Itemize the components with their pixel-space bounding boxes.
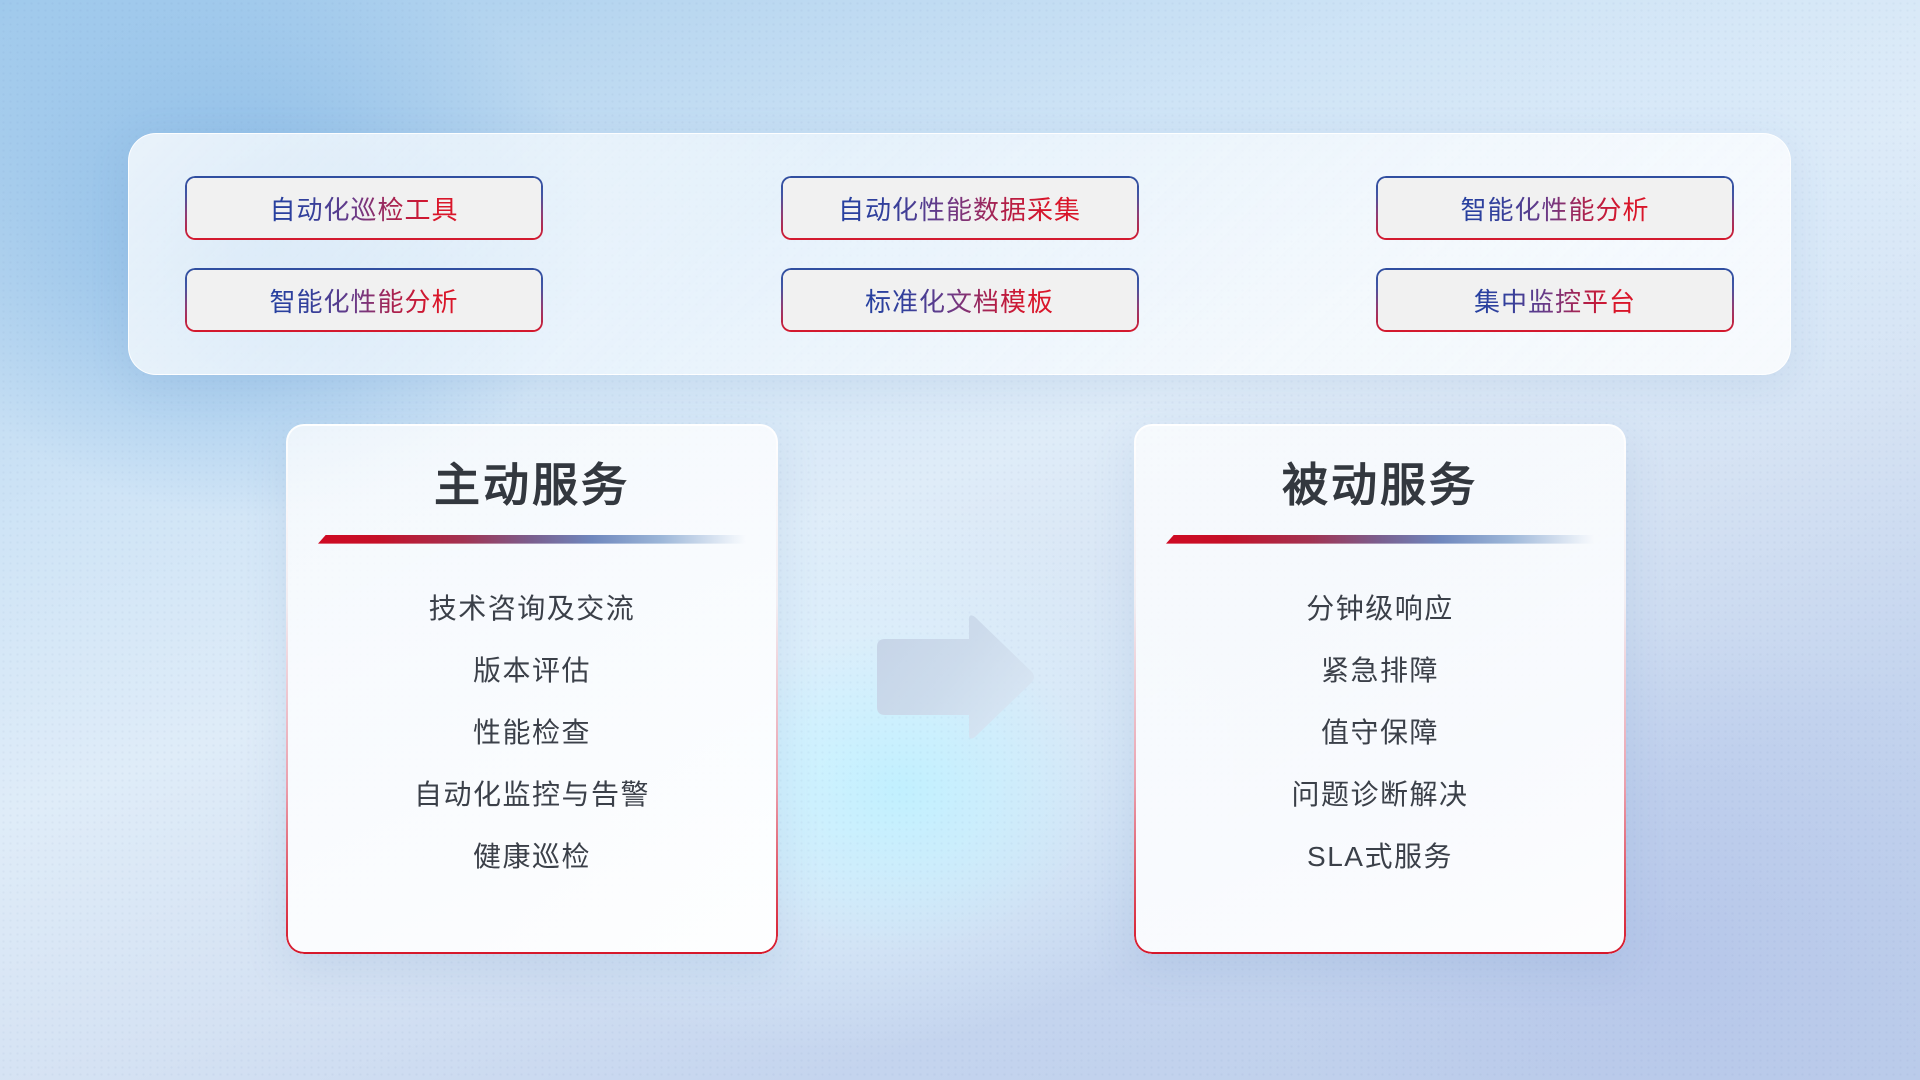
capability-tag-label: 智能化性能分析 (1460, 190, 1649, 227)
list-item: 性能检查 (473, 702, 591, 764)
service-card-list: 技术咨询及交流 版本评估 性能检查 自动化监控与告警 健康巡检 (320, 578, 744, 888)
capability-tag-label: 标准化文档模板 (865, 282, 1054, 319)
capability-tag-intelligent-performance-analysis[interactable]: 智能化性能分析 (1376, 176, 1734, 240)
capability-tag-inner: 自动化性能数据采集 (783, 178, 1137, 238)
list-item: 自动化监控与告警 (414, 764, 650, 826)
service-card-list: 分钟级响应 紧急排障 值守保障 问题诊断解决 SLA式服务 (1168, 578, 1592, 888)
list-item: 健康巡检 (473, 826, 591, 888)
capability-tag-label: 智能化性能分析 (269, 282, 458, 319)
capability-tag-label: 自动化巡检工具 (269, 190, 458, 227)
list-item: 版本评估 (473, 640, 591, 702)
capability-tag-auto-inspection-tool[interactable]: 自动化巡检工具 (185, 176, 543, 240)
service-card-reactive[interactable]: 被动服务 分钟级响应 紧急排障 值守保障 问题诊断解决 SLA式服务 (1134, 424, 1626, 954)
arrow-right-icon (873, 613, 1037, 743)
capability-tag-inner: 标准化文档模板 (783, 270, 1137, 330)
list-item: 值守保障 (1321, 702, 1439, 764)
capability-tag-inner: 集中监控平台 (1378, 270, 1732, 330)
capability-panel: 自动化巡检工具 自动化性能数据采集 智能化性能分析 智能化性能分析 标准化文档模… (128, 133, 1791, 375)
capability-tag-inner: 自动化巡检工具 (187, 178, 541, 238)
list-item: 分钟级响应 (1306, 578, 1454, 640)
capability-tag-auto-performance-collection[interactable]: 自动化性能数据采集 (781, 176, 1139, 240)
capability-tag-inner: 智能化性能分析 (1378, 178, 1732, 238)
capability-tag-label: 自动化性能数据采集 (838, 190, 1081, 227)
service-card-proactive[interactable]: 主动服务 技术咨询及交流 版本评估 性能检查 自动化监控与告警 健康巡检 (286, 424, 778, 954)
service-card-body: 主动服务 技术咨询及交流 版本评估 性能检查 自动化监控与告警 健康巡检 (286, 424, 778, 954)
list-item: 问题诊断解决 (1291, 764, 1468, 826)
capability-row-2: 智能化性能分析 标准化文档模板 集中监控平台 (185, 268, 1734, 332)
service-card-title: 被动服务 (1282, 460, 1478, 511)
service-card-body: 被动服务 分钟级响应 紧急排障 值守保障 问题诊断解决 SLA式服务 (1134, 424, 1626, 954)
capability-row-1: 自动化巡检工具 自动化性能数据采集 智能化性能分析 (185, 176, 1734, 240)
capability-tag-central-monitoring-platform[interactable]: 集中监控平台 (1376, 268, 1734, 332)
service-card-divider (1166, 535, 1594, 544)
capability-tag-label: 集中监控平台 (1474, 282, 1636, 319)
list-item: SLA式服务 (1307, 826, 1453, 888)
list-item: 技术咨询及交流 (429, 578, 636, 640)
capability-tag-inner: 智能化性能分析 (187, 270, 541, 330)
capability-tag-intelligent-performance-analysis-2[interactable]: 智能化性能分析 (185, 268, 543, 332)
service-card-title: 主动服务 (434, 460, 630, 511)
capability-tag-standard-doc-template[interactable]: 标准化文档模板 (781, 268, 1139, 332)
list-item: 紧急排障 (1321, 640, 1439, 702)
service-card-divider (318, 535, 746, 544)
